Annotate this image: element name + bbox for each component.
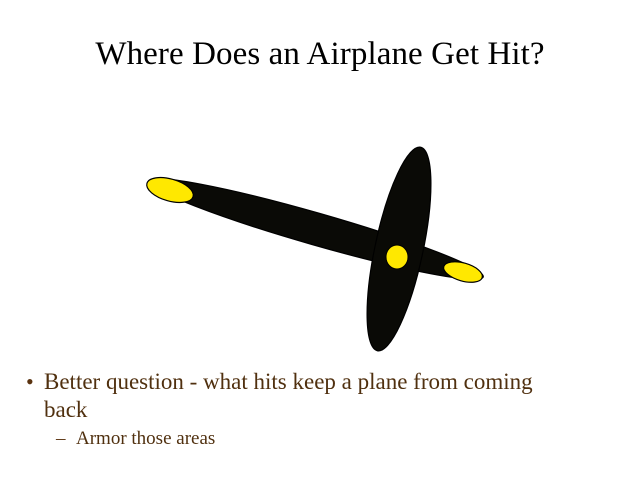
- bullet-item-level2: – Armor those areas: [22, 426, 622, 452]
- bullet-marker-icon: •: [22, 368, 44, 396]
- hit-marker-left-wingtip: [144, 173, 196, 207]
- bullet-item-level1: • Better question - what hits keep a pla…: [22, 368, 622, 424]
- slide: Where Does an Airplane Get Hit? • Better…: [0, 0, 640, 480]
- bullet-text-level2: Armor those areas: [76, 426, 215, 452]
- hit-marker-right-wingtip: [441, 258, 484, 286]
- bullet-text-level1: Better question - what hits keep a plane…: [44, 368, 550, 424]
- hit-marker-center: [386, 245, 408, 269]
- page-title: Where Does an Airplane Get Hit?: [0, 34, 640, 74]
- dash-marker-icon: –: [56, 426, 76, 452]
- airplane-fuselage: [354, 142, 444, 355]
- body-content: • Better question - what hits keep a pla…: [22, 368, 622, 452]
- airplane-wing: [144, 166, 487, 293]
